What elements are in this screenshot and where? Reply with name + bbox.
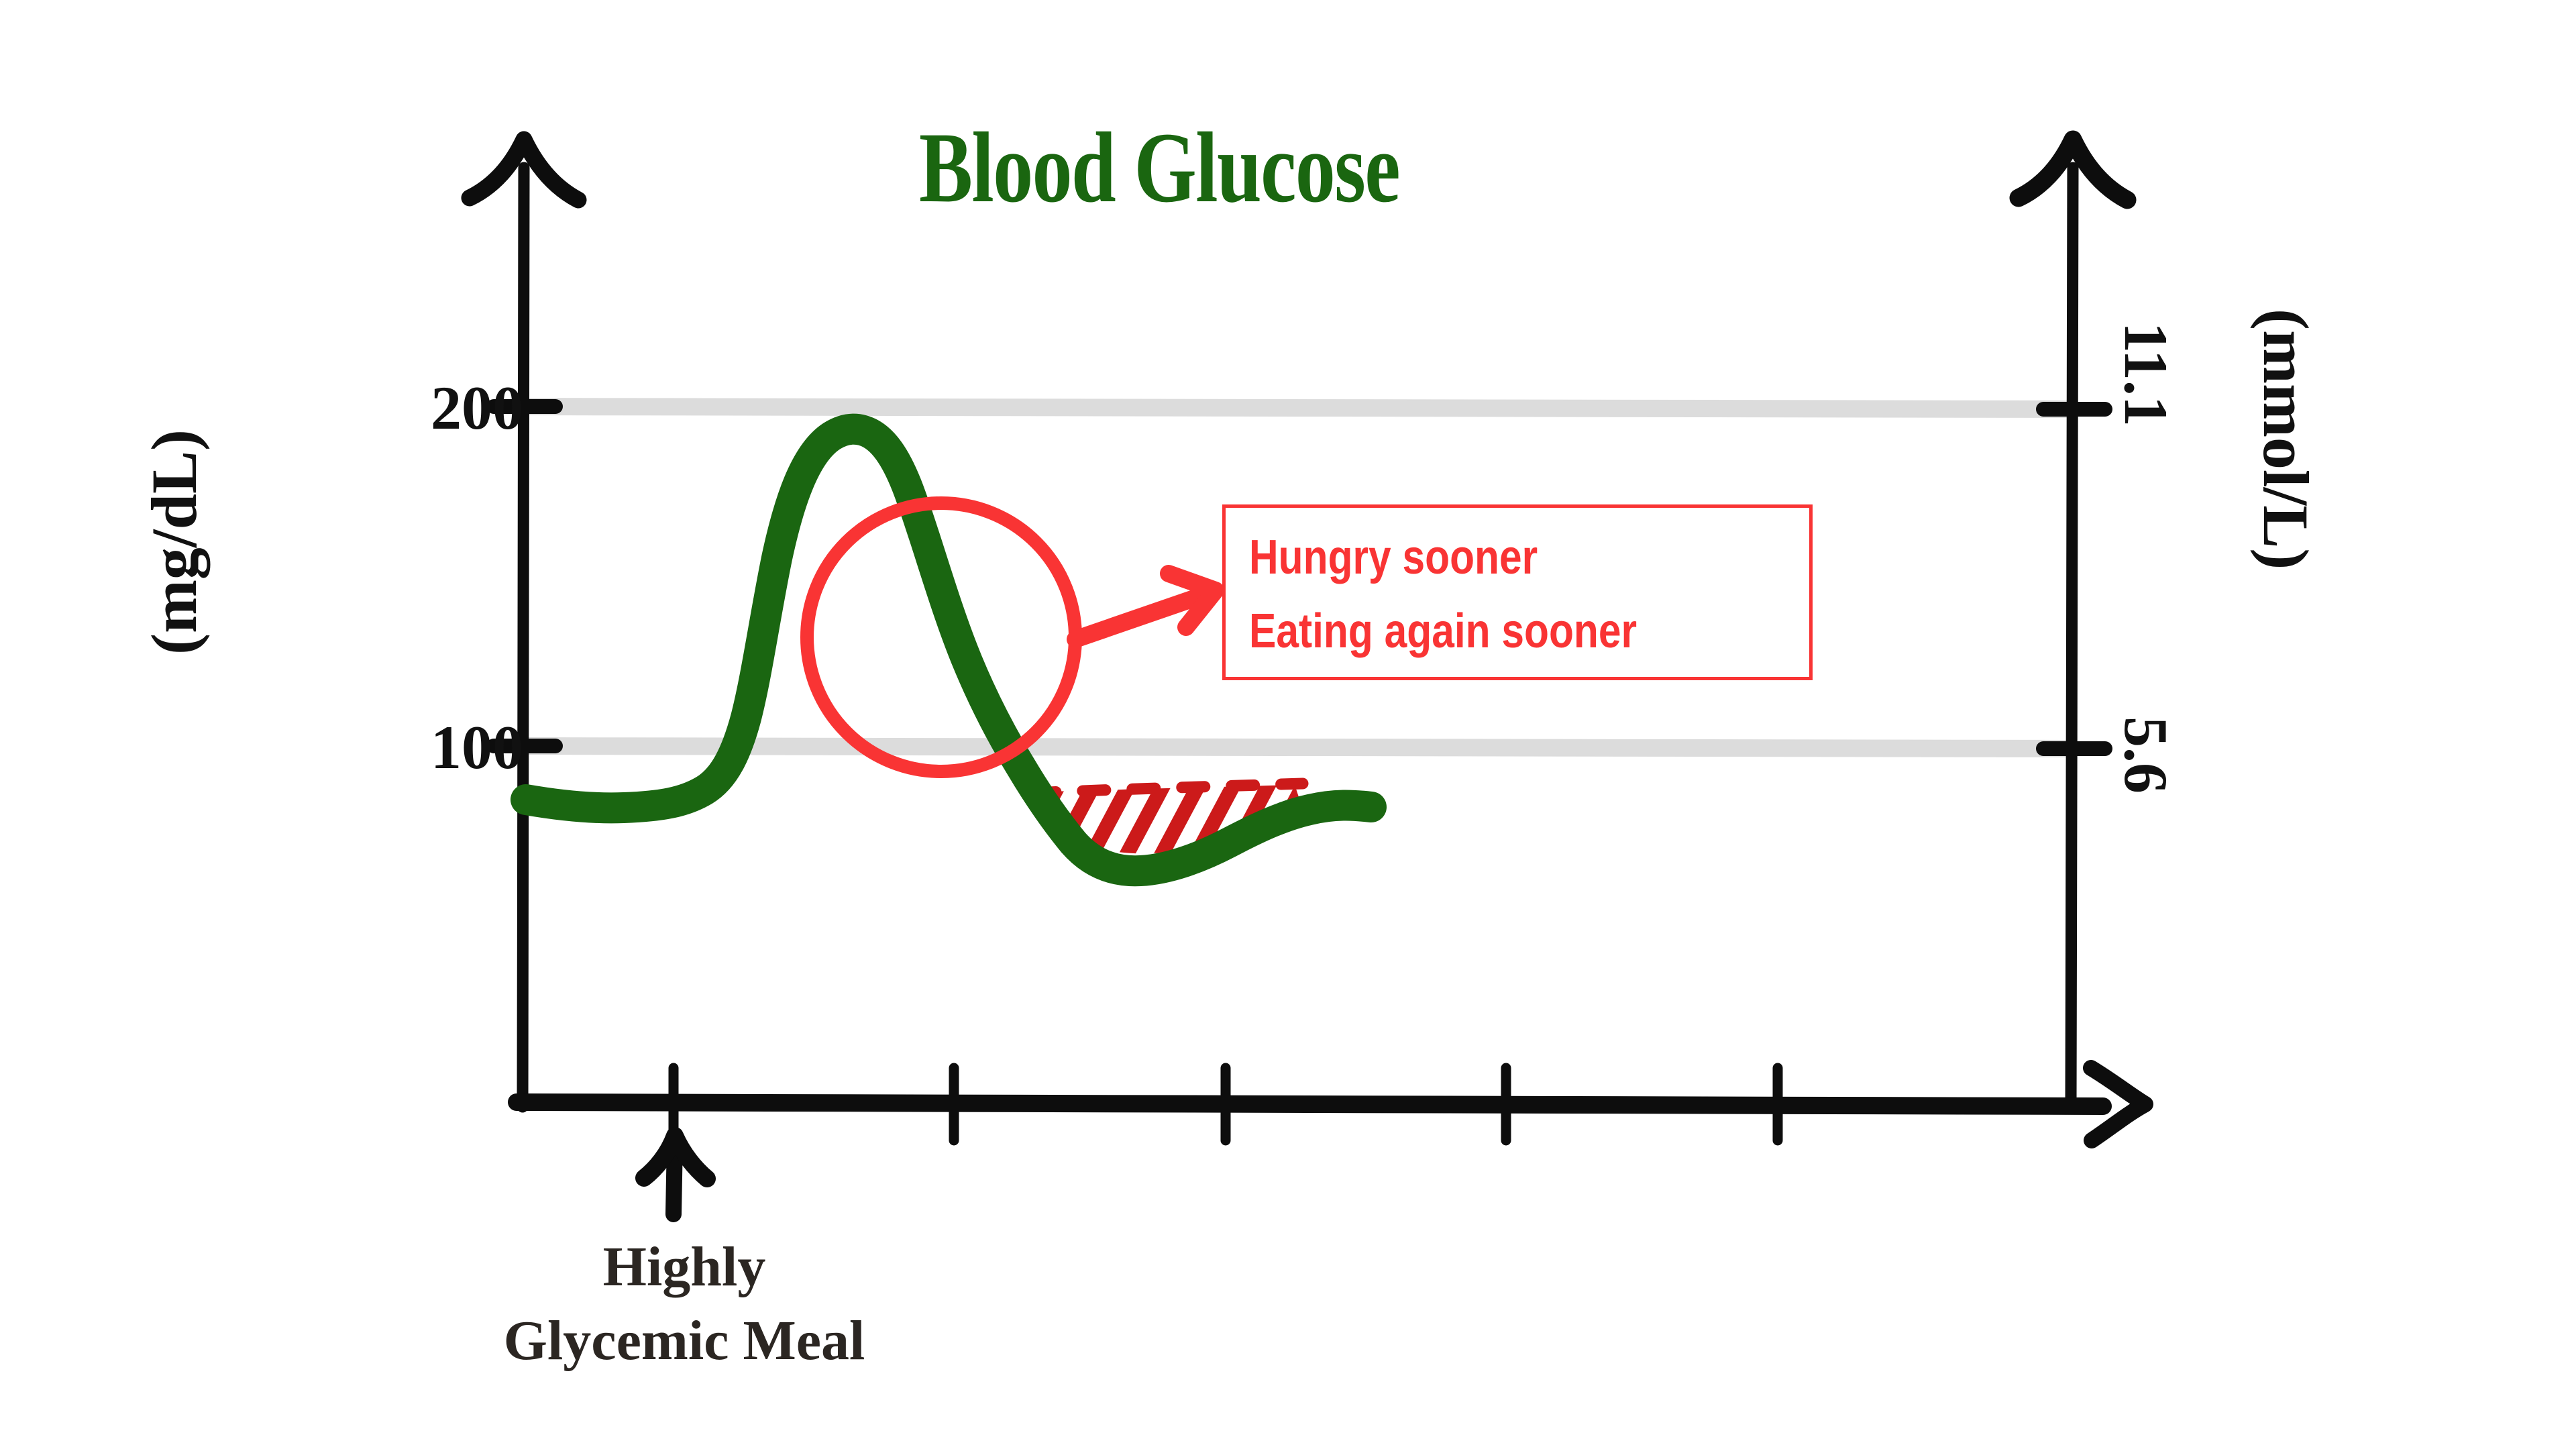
callout-arrow xyxy=(1075,574,1216,639)
y-axis-left xyxy=(470,140,578,1107)
page-title: Blood Glucose xyxy=(919,117,1399,218)
meal-event-label-line-2: Glycemic Meal xyxy=(349,1308,1020,1373)
y-axis-left-line xyxy=(523,168,524,1107)
callout-text-line-2: Eating again sooner xyxy=(1249,604,1637,659)
gridline-200 xyxy=(523,407,2073,409)
y-axis-left-unit-label: (mg/dL) xyxy=(142,287,207,797)
y-axis-tick-label-100: 100 xyxy=(362,716,523,778)
x-axis-line xyxy=(517,1102,2103,1106)
gridline-100 xyxy=(523,746,2073,749)
y-axis-right-unit-label: (mmol/L) xyxy=(2253,309,2318,570)
x-axis xyxy=(517,1068,2145,1140)
callout-text-line-1: Hungry sooner xyxy=(1249,530,1538,585)
y-axis-right xyxy=(2019,140,2127,1107)
chart-canvas: Blood Glucose 200 100 (mg/dL) 11.1 5.6 (… xyxy=(0,0,2576,1449)
y-axis-right-tick-label-11-1: 11.1 xyxy=(2115,322,2177,427)
y-axis-tick-label-200: 200 xyxy=(362,377,523,439)
meal-event-label-line-1: Highly xyxy=(349,1234,1020,1299)
meal-event-arrow xyxy=(644,1136,707,1214)
y-axis-right-line xyxy=(2071,168,2073,1107)
y-axis-right-tick-label-5-6: 5.6 xyxy=(2115,716,2177,794)
